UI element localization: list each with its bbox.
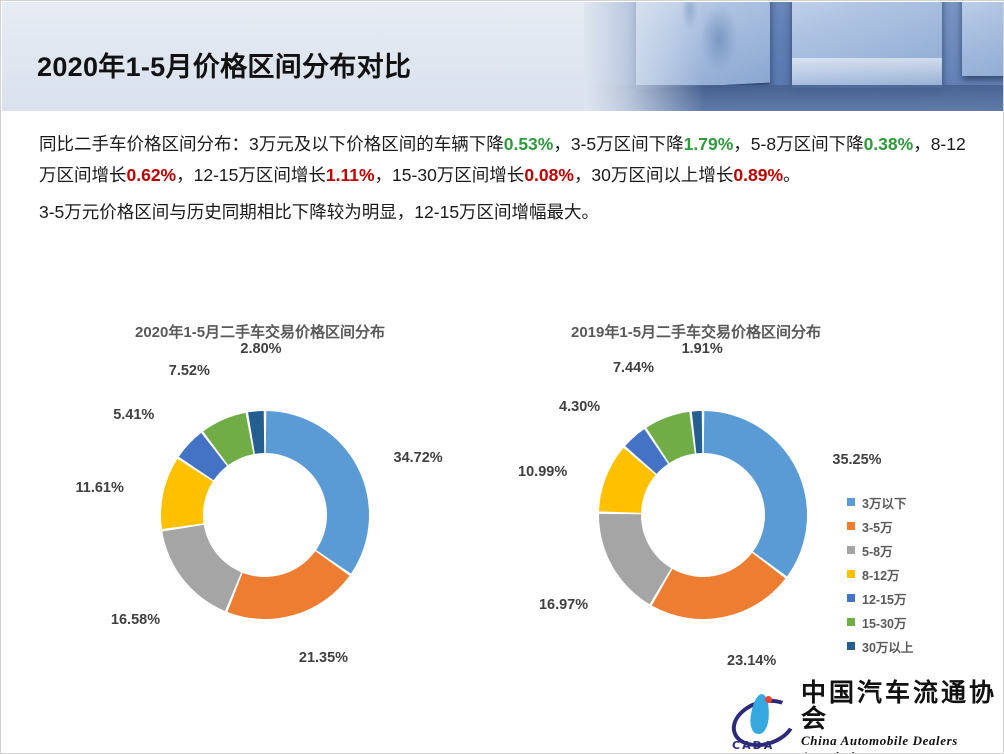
summary-text: 同比二手车价格区间分布：3万元及以下价格区间的车辆下降0.53%，3-5万区间下… [39, 129, 979, 234]
slice-label-8-12万: 11.61% [75, 480, 123, 496]
legend-swatch-icon [847, 594, 855, 602]
donut-slice-3万以下[interactable] [266, 411, 369, 574]
cada-logo: CADA 中国汽车流通协会 China Automobile Dealers A… [729, 680, 1003, 754]
legend-label: 3万以下 [862, 493, 906, 512]
decorative-cube-icon [962, 2, 1004, 76]
slice-label-30万以上: 2.80% [240, 341, 281, 357]
chart-legend: 3万以下 3-5万 5-8万 8-12万 12-15万 15-30万 30万以上 [847, 490, 913, 658]
slice-label-15-30万: 7.44% [613, 360, 654, 376]
legend-swatch-icon [847, 570, 855, 578]
value-highlight-12-15wan: 1.11% [326, 165, 375, 185]
slice-label-5-8万: 16.58% [111, 612, 160, 628]
value-highlight-30wan: 0.89% [733, 165, 783, 185]
text-segment: ，12-15万区间增长 [176, 165, 326, 185]
legend-swatch-icon [847, 642, 855, 650]
summary-paragraph-1: 同比二手车价格区间分布：3万元及以下价格区间的车辆下降0.53%，3-5万区间下… [39, 129, 979, 191]
slice-label-15-30万: 7.52% [169, 363, 210, 379]
legend-label: 3-5万 [862, 517, 893, 536]
value-highlight-3wan: 0.53% [504, 134, 554, 154]
summary-paragraph-2: 3-5万元价格区间与历史同期相比下降较为明显，12-15万区间增幅最大。 [39, 197, 979, 228]
donut-slice-3-5万[interactable] [652, 553, 786, 619]
decorative-floor [584, 85, 1004, 111]
logo-name-cn: 中国汽车流通协会 [801, 680, 1003, 733]
slice-label-30万以上: 1.91% [682, 341, 723, 357]
legend-item-6[interactable]: 30万以上 [847, 634, 913, 658]
donut-slice-3万以下[interactable] [704, 411, 807, 576]
donut-chart-2019: 35.25%23.14%16.97%10.99%4.30%7.44%1.91% [509, 321, 897, 709]
legend-label: 30万以上 [862, 637, 913, 656]
legend-label: 12-15万 [862, 589, 906, 608]
text-segment: 同比二手车价格区间分布：3万元及以下价格区间的车辆下降 [39, 134, 504, 154]
text-segment: ，5-8万区间下降 [733, 134, 863, 154]
slice-label-12-15万: 4.30% [559, 399, 600, 415]
donut-svg [71, 321, 459, 709]
slice-label-3万以下: 35.25% [832, 452, 881, 468]
logo-text: 中国汽车流通协会 China Automobile Dealers Associ… [801, 680, 1003, 754]
legend-item-2[interactable]: 5-8万 [847, 538, 913, 562]
text-segment: ，30万区间以上增长 [574, 165, 733, 185]
slice-label-3-5万: 23.14% [727, 653, 776, 669]
value-highlight-8-12wan: 0.62% [127, 165, 177, 185]
text-segment: ，15-30万区间增长 [375, 165, 525, 185]
legend-label: 8-12万 [862, 565, 900, 584]
page-title: 2020年1-5月价格区间分布对比 [37, 45, 411, 84]
legend-swatch-icon [847, 498, 855, 506]
value-highlight-5-8wan: 0.38% [864, 134, 914, 154]
slice-label-12-15万: 5.41% [113, 407, 154, 423]
value-highlight-15-30wan: 0.08% [524, 165, 574, 185]
slice-label-5-8万: 16.97% [539, 597, 588, 613]
slice-label-3-5万: 21.35% [299, 650, 348, 666]
legend-label: 5-8万 [862, 541, 893, 560]
logo-abbr: CADA [732, 739, 774, 752]
legend-label: 15-30万 [862, 613, 906, 632]
decorative-cube-icon [792, 2, 942, 88]
legend-item-0[interactable]: 3万以下 [847, 490, 913, 514]
text-segment: 。 [783, 165, 801, 185]
cada-emblem-icon: CADA [729, 692, 793, 752]
decorative-cube-icon [636, 2, 770, 90]
legend-item-5[interactable]: 15-30万 [847, 610, 913, 634]
legend-item-3[interactable]: 8-12万 [847, 562, 913, 586]
legend-item-4[interactable]: 12-15万 [847, 586, 913, 610]
donut-slice-3-5万[interactable] [227, 551, 349, 619]
legend-swatch-icon [847, 546, 855, 554]
legend-swatch-icon [847, 618, 855, 626]
text-segment: ，3-5万区间下降 [553, 134, 683, 154]
slice-label-3万以下: 34.72% [394, 450, 443, 466]
slide: 2020年1-5月价格区间分布对比 同比二手车价格区间分布：3万元及以下价格区间… [0, 0, 1004, 754]
header-decorative-image [584, 2, 1004, 111]
donut-slice-5-8万[interactable] [162, 525, 241, 611]
legend-item-1[interactable]: 3-5万 [847, 514, 913, 538]
slice-label-8-12万: 10.99% [518, 464, 567, 480]
donut-svg [509, 321, 897, 709]
logo-name-en: China Automobile Dealers Association [801, 733, 1003, 754]
value-highlight-3-5wan: 1.79% [684, 134, 734, 154]
donut-chart-2020: 34.72%21.35%16.58%11.61%5.41%7.52%2.80% [71, 321, 459, 709]
legend-swatch-icon [847, 522, 855, 530]
